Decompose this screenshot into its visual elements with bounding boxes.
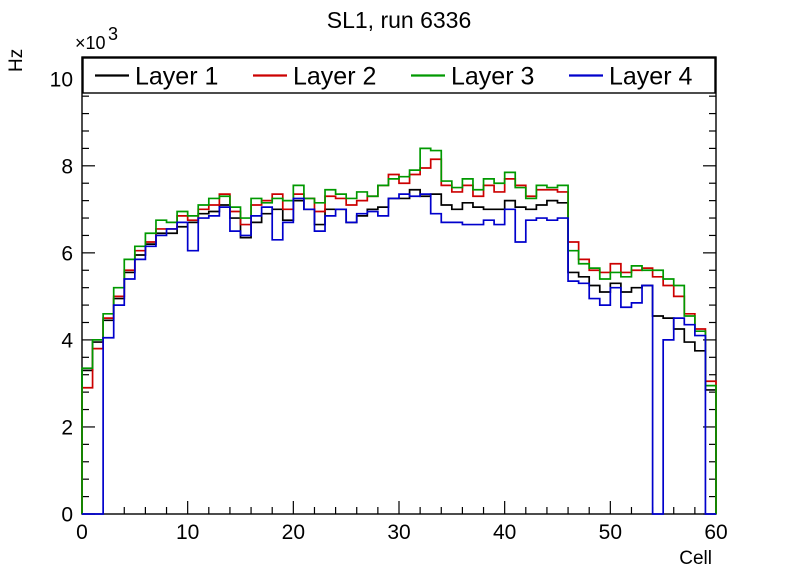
chart-canvas: 02468100102030405060 SL1, run 6336HzCell… [0,0,796,572]
x-axis-title: Cell [679,548,712,569]
series-group [82,148,716,514]
x-tick-label: 10 [176,521,199,544]
chart-svg: 02468100102030405060 SL1, run 6336HzCell… [0,0,796,572]
y-tick-label: 8 [61,155,73,178]
legend-label-layer-3[interactable]: Layer 3 [451,63,534,91]
x-tick-label: 40 [493,521,516,544]
x-tick-label: 0 [76,521,88,544]
y-tick-label: 10 [50,68,73,91]
y-tick-label: 6 [61,242,73,265]
series-line-layer-1 [82,190,716,514]
y-axis-title: Hz [6,49,27,72]
y-axis-exponent: ×10 [75,33,106,53]
x-tick-label: 50 [599,521,622,544]
series-line-layer-3 [82,148,716,514]
x-tick-label: 20 [282,521,305,544]
x-tick-label: 30 [387,521,410,544]
y-tick-label: 2 [61,416,73,439]
page-title: SL1, run 6336 [327,7,472,33]
legend-label-layer-4[interactable]: Layer 4 [609,63,692,91]
legend-group[interactable]: Layer 1Layer 2Layer 3Layer 4 [83,58,715,93]
y-tick-label: 0 [61,504,73,527]
legend-label-layer-1[interactable]: Layer 1 [135,63,218,91]
y-axis-exponent-power: 3 [108,24,118,44]
series-line-layer-4 [82,194,716,514]
y-tick-label: 4 [61,329,73,352]
x-tick-label: 60 [704,521,727,544]
axes-group: 02468100102030405060 [50,57,728,544]
legend-label-layer-2[interactable]: Layer 2 [293,63,376,91]
